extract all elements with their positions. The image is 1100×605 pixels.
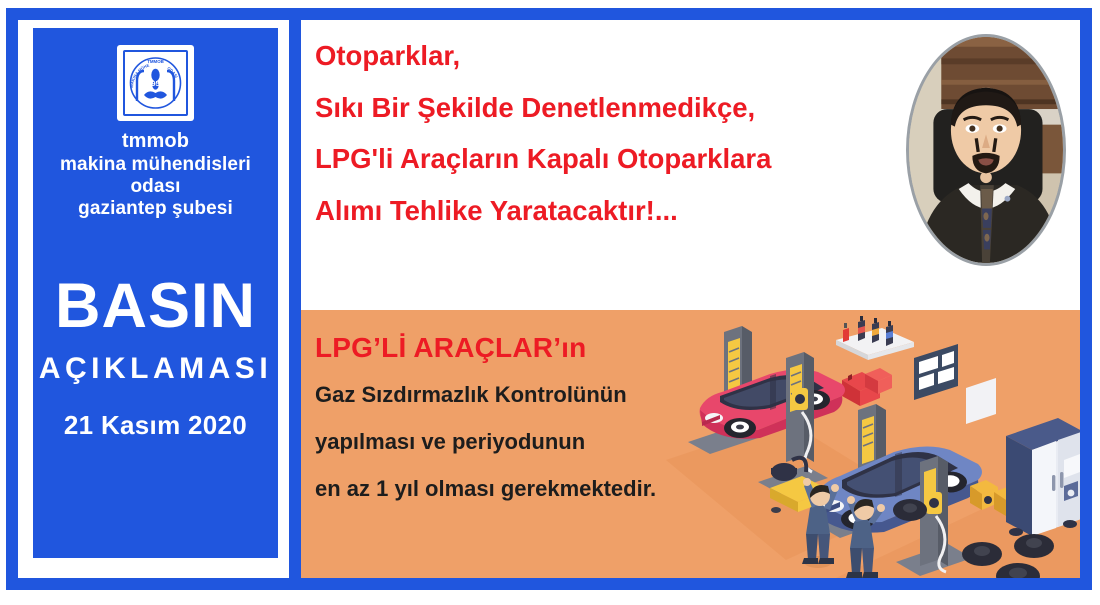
lpg-title: LPG’Lİ ARAÇLAR’ın xyxy=(315,332,735,364)
page-title: BASIN xyxy=(55,275,256,338)
org-line-1: tmmob xyxy=(33,130,278,154)
headline-zone: Otoparklar, Sıkı Bir Şekilde Denetlenmed… xyxy=(301,20,1080,310)
orange-line-2: yapılması ve periyodunun xyxy=(315,431,735,453)
org-line-2: makina mühendisleri odası xyxy=(33,154,278,199)
svg-text:1954: 1954 xyxy=(147,79,165,88)
orange-info-panel: LPG’Lİ ARAÇLAR’ın Gaz Sızdırmazlık Kontr… xyxy=(301,310,1080,578)
org-line-3: gaziantep şubesi xyxy=(33,198,278,220)
svg-text:MAKINA MÜHENDİSLERİ: MAKINA MÜHENDİSLERİ xyxy=(117,45,150,88)
organization-name: tmmob makina mühendisleri odası gaziante… xyxy=(33,130,278,221)
headline-line-4: Alımı Tehlike Yaratacaktır!... xyxy=(315,197,895,225)
tmmob-logo: TMMOB MAKINA MÜHENDİSLERİ ODASI 1954 xyxy=(117,45,194,121)
content-panel: Otoparklar, Sıkı Bir Şekilde Denetlenmed… xyxy=(289,8,1092,590)
orange-line-3: en az 1 yıl olması gerekmektedir. xyxy=(315,478,735,500)
orange-text-block: LPG’Lİ ARAÇLAR’ın Gaz Sızdırmazlık Kontr… xyxy=(315,332,735,525)
press-release-poster: TMMOB MAKINA MÜHENDİSLERİ ODASI 1954 tmm… xyxy=(0,0,1100,605)
sidebar-panel: TMMOB MAKINA MÜHENDİSLERİ ODASI 1954 tmm… xyxy=(33,28,278,558)
headline-line-2: Sıkı Bir Şekilde Denetlenmedikçe, xyxy=(315,94,895,122)
portrait-illustration xyxy=(909,37,1063,263)
headline-line-3: LPG'li Araçların Kapalı Otoparklara xyxy=(315,145,895,173)
page-subtitle: AÇIKLAMASI xyxy=(39,354,272,384)
svg-text:TMMOB: TMMOB xyxy=(147,59,164,64)
portrait-photo xyxy=(906,34,1066,266)
headline-text: Otoparklar, Sıkı Bir Şekilde Denetlenmed… xyxy=(315,42,895,224)
tmmob-emblem-icon: TMMOB MAKINA MÜHENDİSLERİ ODASI 1954 xyxy=(117,45,194,121)
publication-date: 21 Kasım 2020 xyxy=(64,410,247,441)
headline-line-1: Otoparklar, xyxy=(315,42,895,70)
orange-line-1: Gaz Sızdırmazlık Kontrolünün xyxy=(315,384,735,406)
